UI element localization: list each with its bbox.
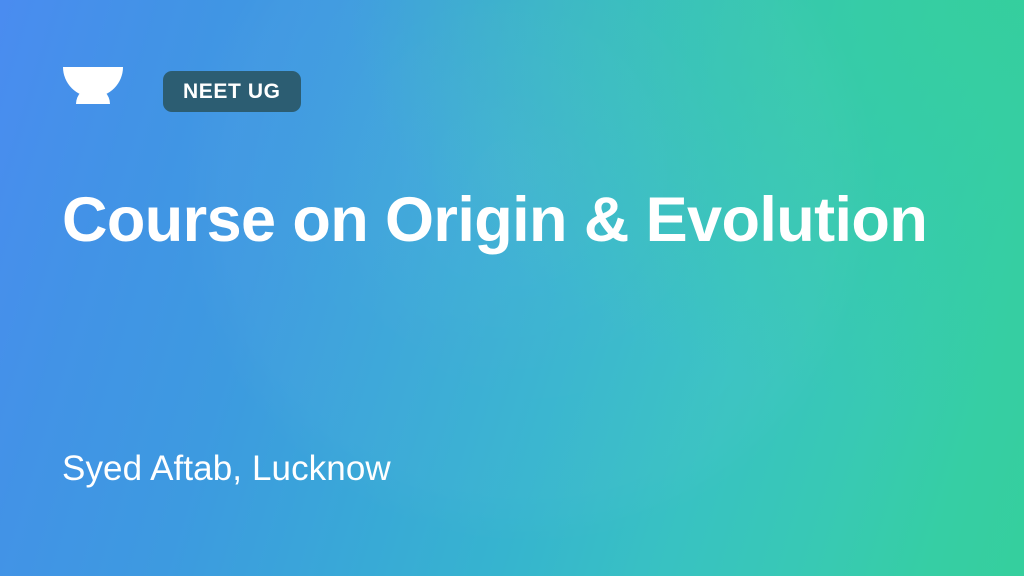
page-title: Course on Origin & Evolution	[62, 185, 962, 256]
status-badge: NEET UG	[163, 71, 301, 112]
card-header: NEET UG	[62, 62, 301, 120]
course-thumbnail-card: NEET UG Course on Origin & Evolution Sye…	[0, 0, 1024, 576]
educator-name-and-location: Syed Aftab, Lucknow	[62, 448, 962, 490]
unacademy-bowl-logo-icon	[62, 63, 124, 119]
status-badge-label: NEET UG	[183, 81, 281, 102]
